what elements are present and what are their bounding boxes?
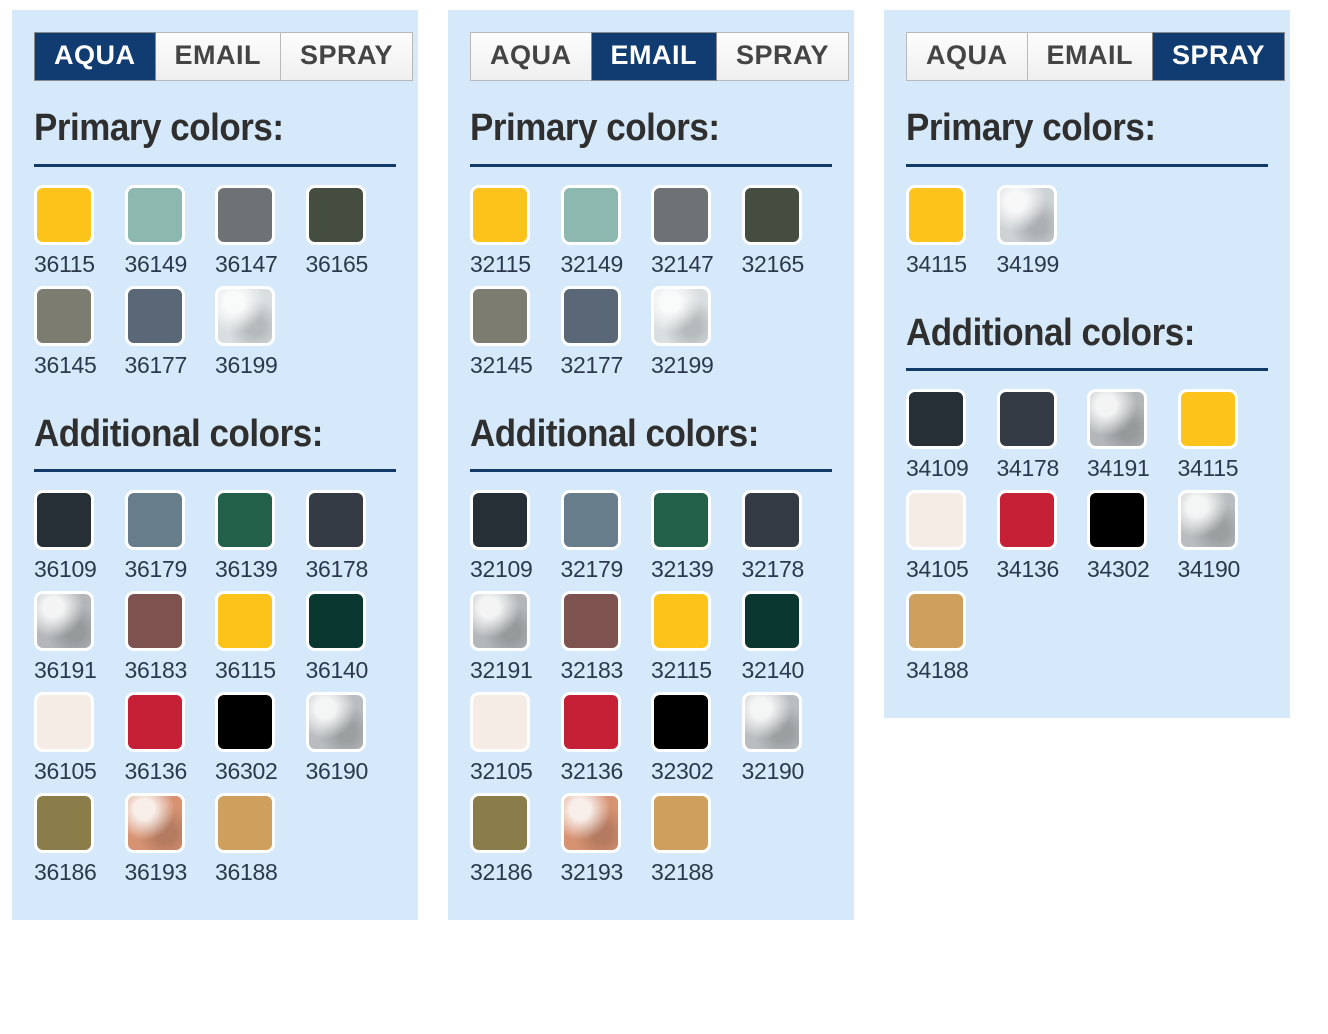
color-code-label: 36190 bbox=[306, 758, 397, 785]
color-code-label: 36177 bbox=[125, 352, 216, 379]
color-chip[interactable] bbox=[561, 591, 621, 651]
color-chip[interactable] bbox=[125, 793, 185, 853]
color-swatch-cell[interactable]: 34136 bbox=[997, 490, 1088, 583]
color-code-label: 32302 bbox=[651, 758, 742, 785]
color-swatch-cell[interactable]: 32178 bbox=[742, 490, 833, 583]
heading-divider bbox=[906, 368, 1268, 371]
color-chip[interactable] bbox=[306, 692, 366, 752]
color-code-label: 36115 bbox=[34, 251, 125, 278]
tab-spray[interactable]: SPRAY bbox=[1152, 32, 1285, 81]
tab-aqua[interactable]: AQUA bbox=[906, 32, 1028, 81]
color-swatch-cell[interactable]: 36199 bbox=[215, 286, 306, 379]
color-swatch-cell[interactable]: 34191 bbox=[1087, 389, 1178, 482]
color-swatch-cell[interactable]: 36115 bbox=[215, 591, 306, 684]
color-code-label: 32191 bbox=[470, 657, 561, 684]
tab-email[interactable]: EMAIL bbox=[1027, 32, 1154, 81]
color-code-label: 32140 bbox=[742, 657, 833, 684]
color-code-label: 36139 bbox=[215, 556, 306, 583]
color-swatch-cell[interactable]: 32105 bbox=[470, 692, 561, 785]
color-swatch-cell[interactable]: 32140 bbox=[742, 591, 833, 684]
color-chip[interactable] bbox=[34, 490, 94, 550]
color-code-label: 32183 bbox=[561, 657, 652, 684]
color-chip[interactable] bbox=[906, 490, 966, 550]
color-chip[interactable] bbox=[997, 185, 1057, 245]
color-code-label: 36136 bbox=[125, 758, 216, 785]
color-code-label: 32115 bbox=[470, 251, 561, 278]
heading-divider bbox=[34, 469, 396, 472]
color-chip[interactable] bbox=[470, 692, 530, 752]
color-chip[interactable] bbox=[1178, 490, 1238, 550]
primary-swatch-grid: 32115321493214732165321453217732199 bbox=[470, 185, 832, 387]
color-swatch-cell[interactable]: 32147 bbox=[651, 185, 742, 278]
tab-email[interactable]: EMAIL bbox=[155, 32, 282, 81]
color-code-label: 32136 bbox=[561, 758, 652, 785]
color-chip[interactable] bbox=[742, 591, 802, 651]
color-swatch-cell[interactable]: 36188 bbox=[215, 793, 306, 886]
color-chip[interactable] bbox=[1087, 490, 1147, 550]
color-code-label: 34105 bbox=[906, 556, 997, 583]
color-chip[interactable] bbox=[742, 185, 802, 245]
color-code-label: 36302 bbox=[215, 758, 306, 785]
palette-panel-spray: AQUA EMAIL SPRAY Primary colors: 3411534… bbox=[884, 10, 1290, 718]
color-swatch-cell[interactable]: 32136 bbox=[561, 692, 652, 785]
color-chip[interactable] bbox=[742, 692, 802, 752]
color-swatch-cell[interactable]: 36109 bbox=[34, 490, 125, 583]
tab-bar: AQUA EMAIL SPRAY bbox=[906, 32, 1268, 81]
primary-colors-heading: Primary colors: bbox=[906, 107, 1239, 150]
color-swatch-cell[interactable]: 34105 bbox=[906, 490, 997, 583]
color-chip[interactable] bbox=[906, 185, 966, 245]
color-code-label: 32179 bbox=[561, 556, 652, 583]
tab-spray[interactable]: SPRAY bbox=[280, 32, 413, 81]
color-swatch-cell[interactable]: 34302 bbox=[1087, 490, 1178, 583]
color-code-label: 32178 bbox=[742, 556, 833, 583]
color-code-label: 34190 bbox=[1178, 556, 1269, 583]
color-code-label: 32105 bbox=[470, 758, 561, 785]
color-swatch-cell[interactable]: 32109 bbox=[470, 490, 561, 583]
color-code-label: 36188 bbox=[215, 859, 306, 886]
color-code-label: 36193 bbox=[125, 859, 216, 886]
color-chip[interactable] bbox=[470, 591, 530, 651]
color-chip[interactable] bbox=[215, 185, 275, 245]
color-code-label: 36105 bbox=[34, 758, 125, 785]
color-swatch-cell[interactable]: 32177 bbox=[561, 286, 652, 379]
color-swatch-cell[interactable]: 32302 bbox=[651, 692, 742, 785]
color-code-label: 36109 bbox=[34, 556, 125, 583]
additional-colors-heading: Additional colors: bbox=[906, 312, 1239, 355]
color-swatch-cell[interactable]: 36136 bbox=[125, 692, 216, 785]
color-code-label: 36179 bbox=[125, 556, 216, 583]
color-chip[interactable] bbox=[215, 591, 275, 651]
color-code-label: 36145 bbox=[34, 352, 125, 379]
primary-swatch-grid: 36115361493614736165361453617736199 bbox=[34, 185, 396, 387]
color-chip[interactable] bbox=[1087, 389, 1147, 449]
color-swatch-cell[interactable]: 34109 bbox=[906, 389, 997, 482]
color-chip[interactable] bbox=[306, 490, 366, 550]
color-chip[interactable] bbox=[125, 591, 185, 651]
tab-aqua[interactable]: AQUA bbox=[34, 32, 156, 81]
color-chip[interactable] bbox=[651, 286, 711, 346]
tab-spray[interactable]: SPRAY bbox=[716, 32, 849, 81]
color-chip[interactable] bbox=[470, 286, 530, 346]
color-swatch-cell[interactable]: 36191 bbox=[34, 591, 125, 684]
color-code-label: 32177 bbox=[561, 352, 652, 379]
color-swatch-cell[interactable]: 36140 bbox=[306, 591, 397, 684]
color-swatch-cell[interactable]: 36165 bbox=[306, 185, 397, 278]
color-chip[interactable] bbox=[306, 591, 366, 651]
color-chip[interactable] bbox=[561, 185, 621, 245]
color-code-label: 32199 bbox=[651, 352, 742, 379]
color-swatch-cell[interactable]: 32199 bbox=[651, 286, 742, 379]
color-swatch-cell[interactable]: 32139 bbox=[651, 490, 742, 583]
color-code-label: 36165 bbox=[306, 251, 397, 278]
color-swatch-cell[interactable]: 36177 bbox=[125, 286, 216, 379]
color-palette-board: AQUA EMAIL SPRAY Primary colors: 3611536… bbox=[0, 0, 1328, 1034]
color-chip[interactable] bbox=[306, 185, 366, 245]
color-swatch-cell[interactable]: 36179 bbox=[125, 490, 216, 583]
color-swatch-cell[interactable]: 32193 bbox=[561, 793, 652, 886]
tab-bar: AQUA EMAIL SPRAY bbox=[470, 32, 832, 81]
color-chip[interactable] bbox=[34, 692, 94, 752]
tab-bar: AQUA EMAIL SPRAY bbox=[34, 32, 396, 81]
color-code-label: 34188 bbox=[906, 657, 997, 684]
color-code-label: 34115 bbox=[906, 251, 997, 278]
color-chip[interactable] bbox=[906, 389, 966, 449]
color-code-label: 32109 bbox=[470, 556, 561, 583]
color-chip[interactable] bbox=[561, 490, 621, 550]
color-code-label: 32145 bbox=[470, 352, 561, 379]
color-chip[interactable] bbox=[651, 793, 711, 853]
color-swatch-cell[interactable]: 32115 bbox=[651, 591, 742, 684]
color-code-label: 32149 bbox=[561, 251, 652, 278]
color-swatch-cell[interactable]: 36149 bbox=[125, 185, 216, 278]
color-swatch-cell[interactable]: 34199 bbox=[997, 185, 1088, 278]
color-code-label: 36186 bbox=[34, 859, 125, 886]
color-code-label: 32193 bbox=[561, 859, 652, 886]
color-code-label: 32147 bbox=[651, 251, 742, 278]
color-chip[interactable] bbox=[906, 591, 966, 651]
color-chip[interactable] bbox=[215, 490, 275, 550]
color-swatch-cell[interactable]: 32191 bbox=[470, 591, 561, 684]
color-swatch-cell[interactable]: 32149 bbox=[561, 185, 652, 278]
color-chip[interactable] bbox=[651, 591, 711, 651]
color-chip[interactable] bbox=[997, 389, 1057, 449]
color-chip[interactable] bbox=[651, 692, 711, 752]
heading-divider bbox=[470, 469, 832, 472]
color-swatch-cell[interactable]: 36183 bbox=[125, 591, 216, 684]
additional-swatch-grid: 3410934178341913411534105341363430234190… bbox=[906, 389, 1268, 692]
tab-email[interactable]: EMAIL bbox=[591, 32, 718, 81]
color-code-label: 36183 bbox=[125, 657, 216, 684]
color-code-label: 36191 bbox=[34, 657, 125, 684]
color-chip[interactable] bbox=[470, 793, 530, 853]
primary-colors-heading: Primary colors: bbox=[470, 107, 803, 150]
color-swatch-cell[interactable]: 36147 bbox=[215, 185, 306, 278]
color-code-label: 34136 bbox=[997, 556, 1088, 583]
color-swatch-cell[interactable]: 32115 bbox=[470, 185, 561, 278]
color-code-label: 36178 bbox=[306, 556, 397, 583]
color-code-label: 32165 bbox=[742, 251, 833, 278]
heading-divider bbox=[470, 164, 832, 167]
color-swatch-cell[interactable]: 32165 bbox=[742, 185, 833, 278]
color-chip[interactable] bbox=[125, 692, 185, 752]
color-code-label: 34178 bbox=[997, 455, 1088, 482]
additional-colors-heading: Additional colors: bbox=[470, 413, 803, 456]
color-code-label: 32190 bbox=[742, 758, 833, 785]
color-swatch-cell[interactable]: 36105 bbox=[34, 692, 125, 785]
color-code-label: 32186 bbox=[470, 859, 561, 886]
color-chip[interactable] bbox=[34, 185, 94, 245]
color-chip[interactable] bbox=[470, 185, 530, 245]
color-code-label: 36149 bbox=[125, 251, 216, 278]
heading-divider bbox=[906, 164, 1268, 167]
color-chip[interactable] bbox=[34, 793, 94, 853]
color-chip[interactable] bbox=[997, 490, 1057, 550]
color-chip[interactable] bbox=[125, 490, 185, 550]
color-chip[interactable] bbox=[470, 490, 530, 550]
color-swatch-cell[interactable]: 32179 bbox=[561, 490, 652, 583]
color-swatch-cell[interactable]: 32188 bbox=[651, 793, 742, 886]
color-swatch-cell[interactable]: 34115 bbox=[1178, 389, 1269, 482]
color-chip[interactable] bbox=[561, 286, 621, 346]
palette-panel-email: AQUA EMAIL SPRAY Primary colors: 3211532… bbox=[448, 10, 854, 920]
color-swatch-cell[interactable]: 32183 bbox=[561, 591, 652, 684]
color-chip[interactable] bbox=[34, 591, 94, 651]
color-swatch-cell[interactable]: 34178 bbox=[997, 389, 1088, 482]
color-swatch-cell[interactable]: 34188 bbox=[906, 591, 997, 684]
color-code-label: 36199 bbox=[215, 352, 306, 379]
color-code-label: 34191 bbox=[1087, 455, 1178, 482]
primary-colors-heading: Primary colors: bbox=[34, 107, 367, 150]
color-swatch-cell[interactable]: 32186 bbox=[470, 793, 561, 886]
color-code-label: 34115 bbox=[1178, 455, 1269, 482]
color-swatch-cell[interactable]: 32190 bbox=[742, 692, 833, 785]
color-chip[interactable] bbox=[125, 185, 185, 245]
additional-swatch-grid: 3610936179361393617836191361833611536140… bbox=[34, 490, 396, 894]
color-chip[interactable] bbox=[215, 793, 275, 853]
color-chip[interactable] bbox=[215, 286, 275, 346]
additional-colors-heading: Additional colors: bbox=[34, 413, 367, 456]
color-swatch-cell[interactable]: 36145 bbox=[34, 286, 125, 379]
color-swatch-cell[interactable]: 36190 bbox=[306, 692, 397, 785]
color-code-label: 32188 bbox=[651, 859, 742, 886]
color-code-label: 32115 bbox=[651, 657, 742, 684]
color-chip[interactable] bbox=[1178, 389, 1238, 449]
color-code-label: 36115 bbox=[215, 657, 306, 684]
color-chip[interactable] bbox=[215, 692, 275, 752]
color-swatch-cell[interactable]: 36186 bbox=[34, 793, 125, 886]
primary-swatch-grid: 3411534199 bbox=[906, 185, 1268, 286]
color-swatch-cell[interactable]: 32145 bbox=[470, 286, 561, 379]
color-chip[interactable] bbox=[561, 692, 621, 752]
palette-panel-aqua: AQUA EMAIL SPRAY Primary colors: 3611536… bbox=[12, 10, 418, 920]
color-swatch-cell[interactable]: 36178 bbox=[306, 490, 397, 583]
color-chip[interactable] bbox=[742, 490, 802, 550]
color-chip[interactable] bbox=[34, 286, 94, 346]
color-swatch-cell[interactable]: 36115 bbox=[34, 185, 125, 278]
tab-aqua[interactable]: AQUA bbox=[470, 32, 592, 81]
color-chip[interactable] bbox=[561, 793, 621, 853]
additional-swatch-grid: 3210932179321393217832191321833211532140… bbox=[470, 490, 832, 894]
color-chip[interactable] bbox=[651, 490, 711, 550]
color-swatch-cell[interactable]: 34115 bbox=[906, 185, 997, 278]
color-code-label: 34109 bbox=[906, 455, 997, 482]
color-swatch-cell[interactable]: 36193 bbox=[125, 793, 216, 886]
color-code-label: 34302 bbox=[1087, 556, 1178, 583]
color-code-label: 34199 bbox=[997, 251, 1088, 278]
color-swatch-cell[interactable]: 34190 bbox=[1178, 490, 1269, 583]
color-chip[interactable] bbox=[125, 286, 185, 346]
color-code-label: 36147 bbox=[215, 251, 306, 278]
color-code-label: 36140 bbox=[306, 657, 397, 684]
color-swatch-cell[interactable]: 36139 bbox=[215, 490, 306, 583]
heading-divider bbox=[34, 164, 396, 167]
color-code-label: 32139 bbox=[651, 556, 742, 583]
color-swatch-cell[interactable]: 36302 bbox=[215, 692, 306, 785]
color-chip[interactable] bbox=[651, 185, 711, 245]
